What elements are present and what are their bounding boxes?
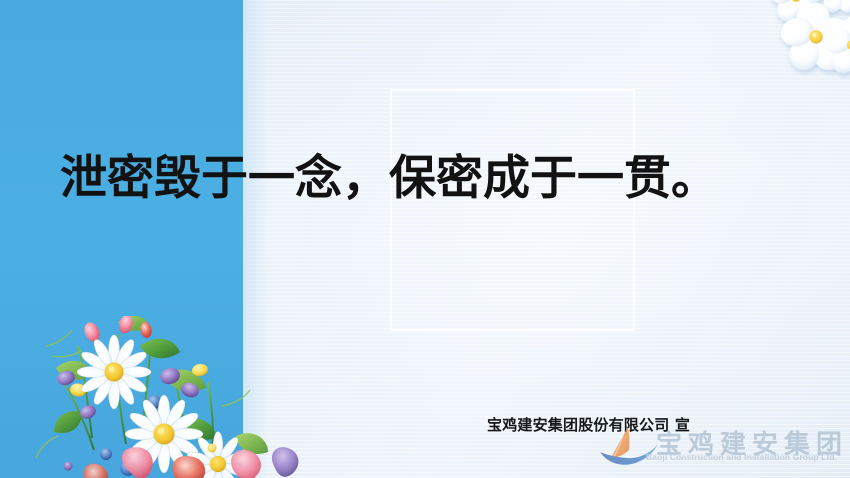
presentation-slide: 泄密毁于一念，保密成于一贯。 宝鸡建安集团股份有限公司 宣	[0, 0, 850, 478]
watermark-company-name-en: Baoji Construction and Installation Grou…	[646, 452, 837, 462]
left-blue-panel	[0, 0, 243, 478]
slide-headline: 泄密毁于一念，保密成于一贯。	[60, 151, 820, 206]
company-watermark: 宝鸡建安集团 Baoji Construction and Installati…	[598, 420, 850, 478]
